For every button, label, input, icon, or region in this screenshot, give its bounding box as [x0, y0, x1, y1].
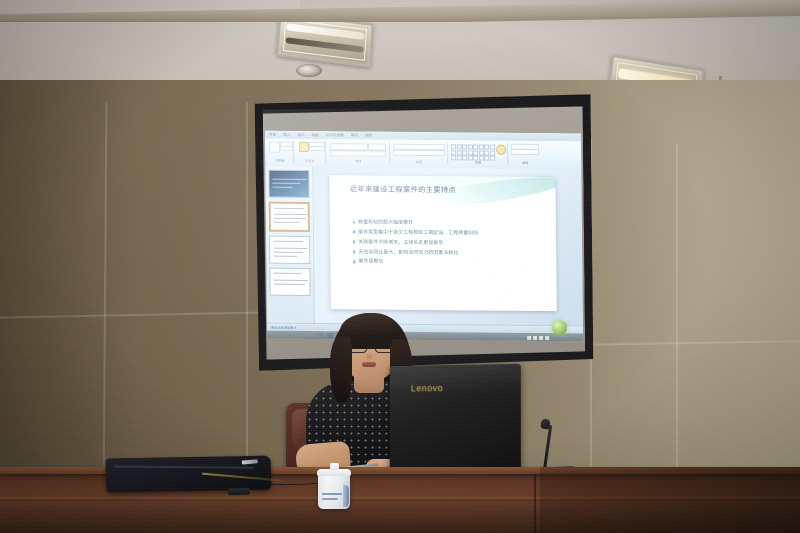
system-tray[interactable] — [527, 335, 549, 339]
lenovo-logo: Lenovo — [411, 383, 443, 393]
ribbon-group-paragraph[interactable]: 段落 — [391, 142, 448, 164]
slide-thumbnail[interactable] — [269, 236, 310, 264]
ribbon-group-label: 绘图 — [449, 160, 507, 165]
wall-panel-seam — [676, 144, 678, 500]
hair-strand-left — [330, 337, 352, 403]
bullet-text: 无效合同比重大，影响合同效力的因素多样化 — [358, 249, 458, 256]
bullet-text: 案件类型集中于拖欠工程款和工期延误、工程质量纠纷 — [358, 229, 478, 236]
ribbon-group-drawing[interactable]: 绘图 — [449, 142, 508, 165]
ribbon-tab[interactable]: 插入 — [283, 132, 290, 137]
ribbon-group-label: 段落 — [391, 160, 447, 164]
slide-bullet-list[interactable]: 数量和标的额大幅度攀升 案件类型集中于拖欠工程款和工期延误、工程质量纠纷 关联案… — [352, 219, 542, 270]
slide-bullet-item[interactable]: 案件周期长 — [353, 259, 543, 267]
ribbon[interactable]: 剪贴板 幻灯片 字体 — [265, 139, 581, 171]
wall-shadow-left — [0, 80, 140, 500]
ribbon-group-slides[interactable]: 幻灯片 — [295, 141, 326, 163]
bullet-marker-icon — [353, 260, 356, 263]
ribbon-tab[interactable]: 设计 — [297, 132, 304, 137]
ribbon-group-clipboard[interactable]: 剪贴板 — [267, 141, 294, 163]
slide-thumbnail[interactable] — [268, 170, 309, 198]
slide-bullet-item[interactable]: 无效合同比重大，影响合同效力的因素多样化 — [353, 249, 543, 257]
desk-seam — [534, 474, 536, 533]
slide-thumbnail[interactable] — [269, 202, 310, 232]
teacup-inscription — [322, 498, 338, 500]
ribbon-group-label: 幻灯片 — [295, 159, 325, 163]
bullet-text: 案件周期长 — [358, 259, 383, 265]
downlight-left-icon — [296, 64, 322, 77]
slide-bullet-item[interactable]: 案件类型集中于拖欠工程款和工期延误、工程质量纠纷 — [353, 229, 543, 237]
ribbon-tab[interactable]: 审阅 — [351, 133, 358, 138]
bullet-marker-icon — [353, 241, 356, 244]
cable — [250, 474, 324, 485]
mouth — [362, 362, 376, 367]
microphone-capsule-icon — [540, 418, 550, 429]
ribbon-tab[interactable]: 幻灯片放映 — [326, 133, 344, 138]
teacup-knob — [330, 463, 339, 470]
ribbon-group-label: 字体 — [327, 159, 389, 164]
teacup — [318, 465, 350, 509]
wall-highlight-right — [570, 80, 800, 500]
photo-scene: 开始 插入 设计 动画 幻灯片放映 审阅 视图 剪贴板 — [0, 0, 800, 533]
ribbon-tab[interactable]: 动画 — [312, 133, 319, 138]
bullet-marker-icon — [353, 231, 356, 234]
ribbon-group-label: 编辑 — [509, 161, 541, 165]
slide-title[interactable]: 近年来建设工程案件的主要特点 — [350, 185, 542, 195]
bullet-marker-icon — [352, 221, 355, 224]
laptop-lid: Lenovo — [390, 364, 521, 478]
bullet-text: 关联案件不断增末，法律关系更加复杂 — [358, 239, 443, 246]
teacup-lid — [317, 469, 351, 476]
desk-shadow-right — [540, 467, 800, 533]
nose — [366, 352, 373, 359]
bullet-text: 数量和标的额大幅度攀升 — [358, 219, 413, 226]
ribbon-tab[interactable]: 视图 — [365, 133, 372, 138]
ribbon-tab[interactable]: 开始 — [269, 132, 276, 137]
ribbon-group-label: 剪贴板 — [267, 159, 293, 163]
teacup-inscription — [322, 493, 342, 495]
laptop: Lenovo — [388, 359, 528, 477]
mobile-phone — [228, 488, 250, 496]
ribbon-group-editing[interactable]: 编辑 — [509, 143, 541, 165]
slide-bullet-item[interactable]: 数量和标的额大幅度攀升 — [352, 219, 542, 227]
bullet-marker-icon — [353, 251, 356, 254]
slide-bullet-item[interactable]: 关联案件不断增末，法律关系更加复杂 — [353, 239, 543, 247]
wall-panel-seam — [246, 102, 248, 500]
desktop-green-orb-icon[interactable] — [552, 320, 567, 335]
notes-placeholder[interactable]: 单击此处添加备注 — [271, 325, 297, 330]
ribbon-group-font[interactable]: 字体 — [327, 141, 390, 164]
